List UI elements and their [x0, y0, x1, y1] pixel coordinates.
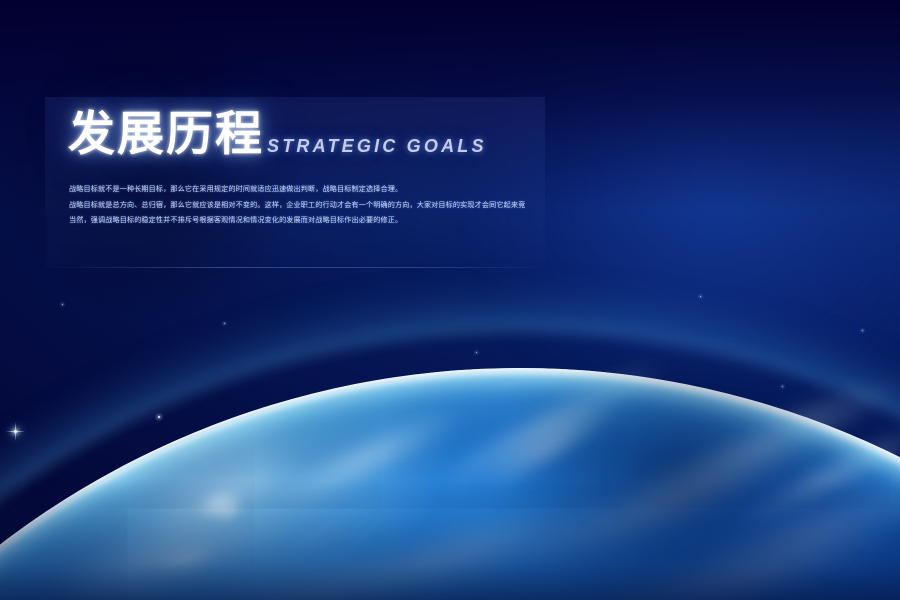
body-paragraph: 战略目标就不是一种长期目标，那么它在采用规定的时间就适应迅速做出判断，战略目标制…	[69, 183, 525, 196]
headline-panel: 发展历程 STRATEGIC GOALS 战略目标就不是一种长期目标，那么它在采…	[45, 97, 545, 268]
body-paragraph: 战略目标就是总方向、总归宿，那么它就应该是相对不变的。这样，企业职工的行动才会有…	[69, 199, 525, 212]
page-title: 发展历程	[68, 112, 264, 159]
earth-illustration	[0, 0, 900, 600]
heading-row: 发展历程 STRATEGIC GOALS	[68, 112, 487, 159]
banner-stage: 发展历程 STRATEGIC GOALS 战略目标就不是一种长期目标，那么它在采…	[0, 0, 900, 600]
page-subtitle: STRATEGIC GOALS	[267, 136, 487, 159]
body-paragraph: 当然，强调战略目标的稳定性并不排斥号根据客观情况和情况变化的发展而对战略目标作出…	[69, 214, 525, 227]
body-copy: 战略目标就不是一种长期目标，那么它在采用规定的时间就适应迅速做出判断，战略目标制…	[69, 183, 525, 227]
